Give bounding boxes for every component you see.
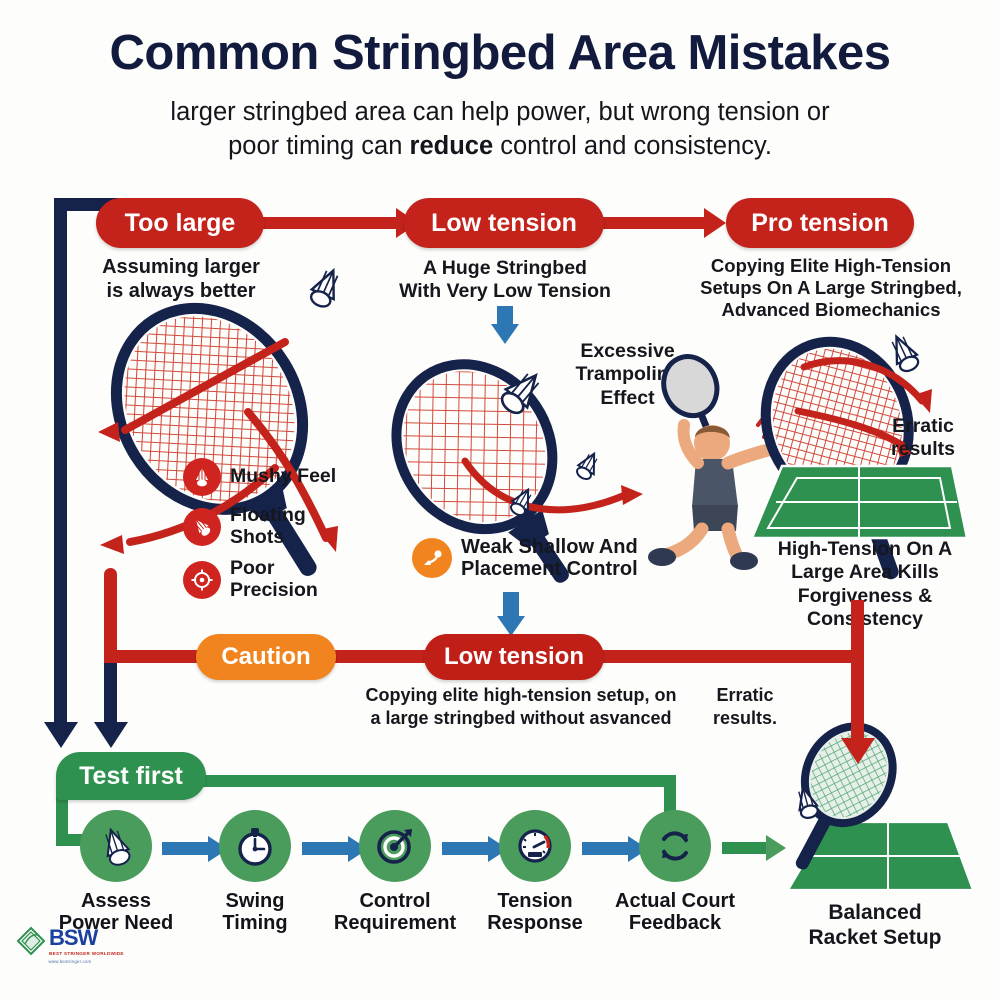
blue-connector-outcome [503, 592, 519, 618]
blue-bar-step-3-4 [442, 842, 490, 855]
result-line-1: Balanced [828, 901, 921, 924]
note-line-1: Copying elite high-tension setup, on [366, 685, 677, 705]
blue-arrowhead-outcome [497, 616, 525, 636]
pill-label: Caution [221, 643, 310, 671]
subtitle-emphasis: reduce [410, 132, 494, 160]
pill-label: Low tension [431, 209, 577, 238]
page-subtitle: larger stringbed area can help power, bu… [100, 96, 900, 163]
bullet-poor-precision: Poor Precision [183, 558, 318, 602]
shuttlecock-icon [80, 810, 152, 882]
red-connector-1-2 [256, 217, 401, 229]
outcome-line-1: High-Tension On A [778, 538, 952, 560]
step-actual-court-feedback[interactable]: Actual Court Feedback [639, 810, 711, 882]
outcome-weak-placement: Weak Shallow And Placement Control [412, 536, 638, 581]
pill-label: Low tension [444, 643, 584, 671]
result-label: Balanced Racket Setup [770, 900, 980, 950]
target-arrow-icon [359, 810, 431, 882]
subtitle-line-2-post: control and consistency. [493, 132, 772, 160]
step-label: Tension Response [487, 890, 583, 935]
navy-arrowhead-outer [44, 722, 78, 748]
navy-arrowhead-inner [94, 722, 128, 748]
column-pill-too-large[interactable]: Too large [96, 198, 264, 248]
green-arrow-to-result [766, 835, 786, 861]
blue-arrowhead-low-tension [491, 324, 519, 344]
mid-band-left-riser [104, 568, 117, 656]
shuttle-trajectory-illustration [455, 425, 665, 535]
erratic-line-2: results [891, 438, 955, 460]
caption-pro-tension: Copying Elite High-Tension Setups On A L… [700, 255, 962, 322]
subtitle-line-1: larger stringbed area can help power, bu… [170, 98, 829, 126]
mid-pill-caution[interactable]: Caution [196, 634, 336, 680]
pill-label: Test first [79, 762, 183, 791]
page-title: Common Stringbed Area Mistakes [0, 28, 1000, 79]
refresh-cycle-icon [639, 810, 711, 882]
erratic-line-1: Erratic [892, 415, 954, 437]
outcome-high-tension-text: High-Tension On A Large Area Kills Forgi… [740, 538, 990, 632]
bullet-label: Poor Precision [230, 558, 318, 602]
navy-connector-outer-vertical [54, 198, 67, 726]
bullet-floating-shots: Floating Shots [183, 505, 306, 549]
outcome-line-2: Large Area Kills [791, 561, 939, 583]
logo-tagline: BEST STRINGER WORLDWIDE [49, 951, 124, 956]
brand-logo: BSW BEST STRINGER WORLDWIDE www.bestring… [16, 925, 124, 964]
caption-line-2: Setups On A Large Stringbed, [700, 277, 962, 298]
red-arrowhead-to-racket [841, 738, 875, 764]
mid-pill-low-tension[interactable]: Low tension [424, 634, 604, 680]
erratic-results-text-top: Erratic results [868, 415, 978, 462]
target-crosshair-icon [183, 561, 221, 599]
subtitle-line-2-pre: poor timing can [228, 132, 409, 160]
red-arrowhead-2-3 [704, 208, 726, 238]
caption-line-1: A Huge Stringbed [423, 257, 587, 279]
blue-connector-low-tension [497, 306, 513, 326]
shuttlecock-tilted-icon [183, 508, 221, 546]
result-line-2: Racket Setup [808, 926, 941, 949]
step-tension-response[interactable]: Tension Response [499, 810, 571, 882]
blue-bar-step-2-3 [302, 842, 350, 855]
step-label: Actual Court Feedback [615, 890, 735, 935]
gauge-icon [499, 810, 571, 882]
step-label: Swing Timing [222, 890, 287, 935]
mid-band-right-drop [851, 650, 864, 742]
bounce-arrow-icon [412, 538, 452, 578]
bullet-label: Mushy Feel [230, 466, 336, 488]
pill-label: Pro tension [751, 209, 889, 238]
note-line-2: a large stringbed without asvanced [370, 708, 671, 728]
mid-band-erratic: Erratic results. [690, 684, 800, 729]
mid-band-note: Copying elite high-tension setup, on a l… [356, 684, 686, 729]
erratic-line-2: results. [713, 708, 777, 728]
step-swing-timing[interactable]: Swing Timing [219, 810, 291, 882]
step-assess-power-need[interactable]: Assess Power Need [80, 810, 152, 882]
shuttlecock-illustration [300, 263, 352, 311]
stopwatch-icon [219, 810, 291, 882]
bullet-label: Floating Shots [230, 505, 306, 549]
erratic-line-1: Erratic [716, 685, 773, 705]
infographic-canvas: Common Stringbed Area Mistakes larger st… [0, 0, 1000, 1000]
step-label: Control Requirement [334, 890, 456, 935]
shuttlecock-icon [183, 458, 221, 496]
shuttlecock-in-stringbed-icon [490, 362, 552, 424]
shuttlecock-result-icon [786, 782, 828, 824]
column-pill-pro-tension[interactable]: Pro tension [726, 198, 914, 248]
step-control-requirement[interactable]: Control Requirement [359, 810, 431, 882]
outcome-label: Weak Shallow And Placement Control [461, 536, 638, 581]
caption-line-3: Advanced Biomechanics [722, 299, 941, 320]
green-connector-horizontal [168, 775, 676, 787]
bullet-mushy-feel: Mushy Feel [183, 458, 336, 496]
logo-text: BSW [49, 925, 124, 951]
caption-low-tension: A Huge Stringbed With Very Low Tension [390, 257, 620, 304]
caption-line-2: With Very Low Tension [399, 280, 611, 302]
logo-url: www.bestringer.com [16, 959, 124, 964]
green-bar-to-result [722, 842, 770, 854]
column-pill-low-tension[interactable]: Low tension [404, 198, 604, 248]
caption-line-1: Assuming larger [102, 256, 260, 278]
bottom-pill-test-first[interactable]: Test first [56, 752, 206, 800]
blue-bar-step-1-2 [162, 842, 210, 855]
red-connector-2-3 [600, 217, 710, 229]
blue-bar-step-4-5 [582, 842, 630, 855]
caption-line-1: Copying Elite High-Tension [711, 255, 951, 276]
outcome-line-3: Forgiveness & Consistency [798, 585, 932, 630]
pill-label: Too large [125, 209, 236, 238]
logo-mark-icon [16, 926, 46, 956]
